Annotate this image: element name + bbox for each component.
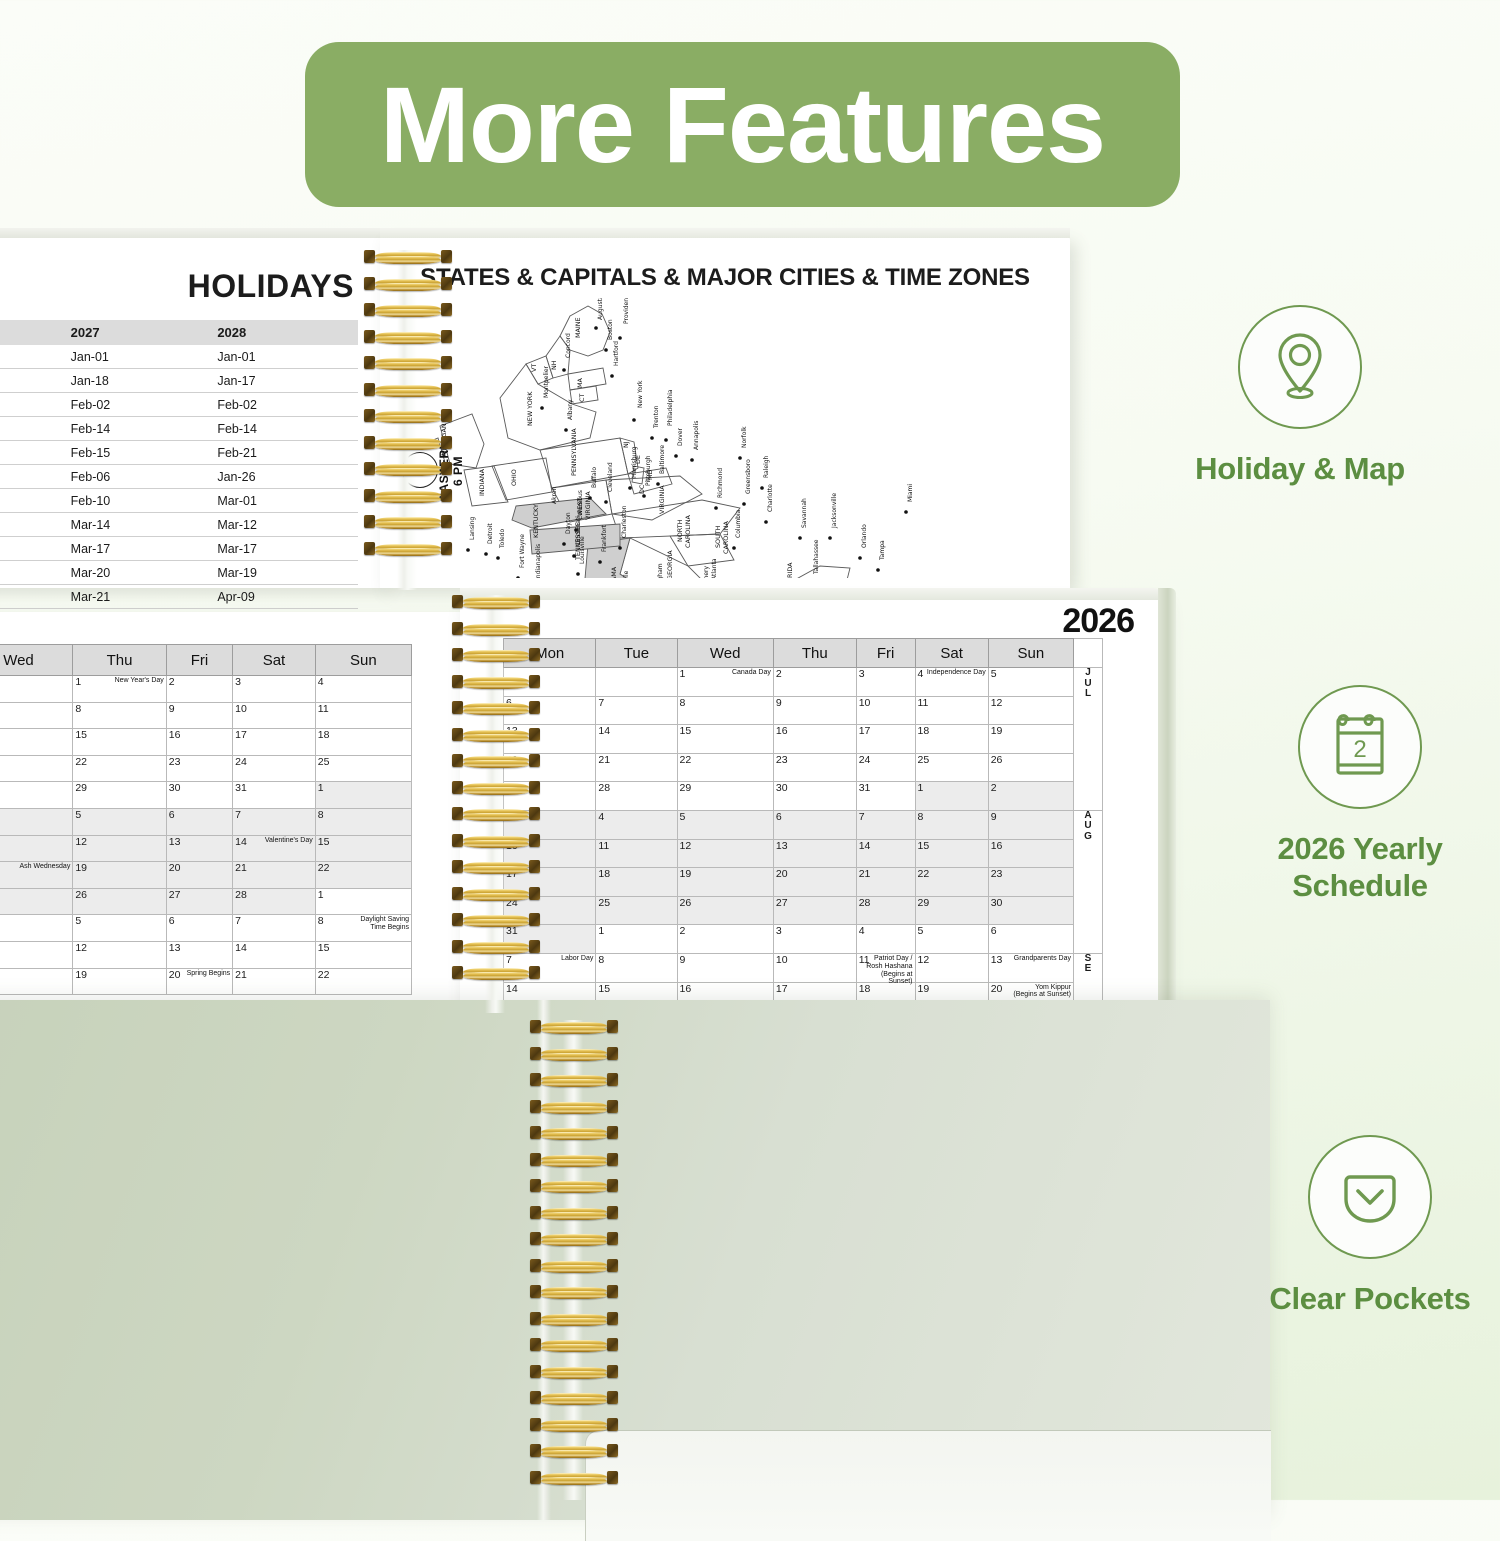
holidays-cell: Jan-01 <box>0 345 65 369</box>
calendar-day-cell[interactable] <box>0 676 73 703</box>
calendar-day-cell[interactable]: 4 <box>0 915 73 942</box>
svg-text:Lansing: Lansing <box>469 517 476 540</box>
calendar-day-cell[interactable]: 8Daylight Saving Time Begins <box>315 915 411 942</box>
holidays-cell: Feb-16 <box>0 441 65 465</box>
holidays-cell: Mar-14 <box>65 513 212 537</box>
calendar-day-cell[interactable]: 20Spring Begins <box>166 968 232 995</box>
calendar-day-cell[interactable]: 18 <box>596 868 677 897</box>
svg-text:Toledo: Toledo <box>499 529 506 549</box>
spiral-wire-loop <box>450 807 542 820</box>
calendar-day-number: 21 <box>598 755 610 766</box>
svg-text:Atlanta: Atlanta <box>711 558 718 578</box>
calendar-day-cell[interactable]: 5 <box>677 810 773 839</box>
calendar-month-tab: A U G <box>1074 810 1103 953</box>
calendar-day-cell[interactable]: 15 <box>315 835 411 862</box>
svg-text:Columbus: Columbus <box>577 490 584 520</box>
spiral-wire-loop <box>362 277 454 290</box>
calendar-day-cell[interactable]: 21 <box>856 868 915 897</box>
calendar-day-cell[interactable]: 1Canada Day <box>677 668 773 697</box>
calendar-day-cell[interactable]: 28 <box>233 888 316 915</box>
holidays-cell: Feb-02 <box>65 393 212 417</box>
calendar-day-number: 3 <box>859 669 865 680</box>
calendar-day-cell[interactable]: 1 <box>315 782 411 809</box>
holidays-table-header-row: 202620272028 <box>0 320 358 345</box>
calendar-day-cell[interactable]: 9 <box>677 953 773 982</box>
calendar-day-cell[interactable]: 7 <box>596 696 677 725</box>
calendar-day-cell[interactable]: 30 <box>988 896 1073 925</box>
calendar-day-cell[interactable]: 14 <box>0 729 73 756</box>
spiral-binding-bottom <box>528 1020 620 1500</box>
calendar-day-cell[interactable]: 2 <box>166 676 232 703</box>
calendar-day-cell[interactable]: 5 <box>73 808 166 835</box>
spiral-wire-loop <box>528 1179 620 1192</box>
calendar-day-cell[interactable]: 4 <box>315 676 411 703</box>
calendar-weekday-header: Sat <box>915 639 988 668</box>
map-pin-icon <box>1238 305 1362 429</box>
calendar-day-cell[interactable]: 7 <box>856 810 915 839</box>
calendar-day-cell[interactable]: 4 <box>0 808 73 835</box>
holidays-row: Mar-08Mar-14Mar-12 <box>0 513 358 537</box>
svg-text:CAROLINA: CAROLINA <box>684 514 692 548</box>
calendar-day-event: Daylight Saving Time Begins <box>360 916 409 932</box>
calendar-weekday-header: Fri <box>856 639 915 668</box>
calendar-day-cell[interactable]: 18Ash Wednesday <box>0 862 73 889</box>
calendar-day-cell[interactable]: 8 <box>915 810 988 839</box>
calendar-day-number: 15 <box>318 837 330 848</box>
calendar-day-number: 4 <box>918 669 924 680</box>
svg-text:Charlotte: Charlotte <box>767 484 774 512</box>
calendar-day-cell[interactable]: 12 <box>677 839 773 868</box>
calendar-day-cell[interactable]: 25 <box>315 755 411 782</box>
calendar-day-event: Canada Day <box>732 669 771 677</box>
calendar-day-cell[interactable]: 27 <box>166 888 232 915</box>
calendar-day-event: Valentine's Day <box>265 837 313 845</box>
calendar-day-cell[interactable]: 28 <box>856 896 915 925</box>
pocket-chevron-icon <box>1308 1135 1432 1259</box>
calendar-day-cell[interactable]: 24 <box>233 755 316 782</box>
calendar-day-number: 22 <box>318 863 330 874</box>
spiral-wire-loop <box>362 542 454 555</box>
calendar-day-cell[interactable]: 9 <box>166 702 232 729</box>
svg-text:Nashville: Nashville <box>623 570 630 578</box>
calendar-day-cell[interactable]: 12 <box>73 835 166 862</box>
calendar-day-cell[interactable]: 22 <box>315 968 411 995</box>
feature-clear-pockets: Clear Pockets <box>1245 1135 1495 1318</box>
holidays-cell: Jan-17 <box>211 369 358 393</box>
calendar-day-number: 17 <box>859 726 871 737</box>
calendar-day-number: 8 <box>680 698 686 709</box>
calendar-day-number: 17 <box>776 984 788 995</box>
calendar-day-cell[interactable]: 23 <box>773 753 856 782</box>
calendar-day-cell[interactable]: 10 <box>233 702 316 729</box>
svg-text:Orlando: Orlando <box>861 524 868 548</box>
holidays-row: Feb-14Feb-14Feb-14 <box>0 417 358 441</box>
spiral-wire-loop <box>528 1206 620 1219</box>
feature-yearly-schedule: 2 2026 Yearly Schedule <box>1215 685 1500 904</box>
holidays-cell: Feb-18 <box>0 489 65 513</box>
calendar-day-cell[interactable]: 11Patriot Day / Rosh Hashana (Begins at … <box>856 953 915 982</box>
calendar-day-cell[interactable]: 4 <box>856 925 915 954</box>
calendar-day-cell[interactable]: 26 <box>988 753 1073 782</box>
calendar-day-number: 23 <box>776 755 788 766</box>
calendar-day-cell[interactable]: 4 <box>596 810 677 839</box>
calendar-day-cell[interactable]: 22 <box>73 755 166 782</box>
spiral-wire-loop <box>450 781 542 794</box>
calendar-day-number: 14 <box>235 943 247 954</box>
calendar-day-cell[interactable]: 18 <box>315 729 411 756</box>
calendar-day-cell[interactable]: 30 <box>166 782 232 809</box>
calendar-weekday-header: Sun <box>315 645 411 676</box>
svg-text:Charleston: Charleston <box>621 505 628 538</box>
calendar-week-row: 3456789A U G <box>504 810 1103 839</box>
calendar-day-cell[interactable]: 5 <box>915 925 988 954</box>
calendar-day-cell[interactable]: 9 <box>988 810 1073 839</box>
calendar-week-row: 31123456 <box>504 925 1103 954</box>
calendar-day-number: 2 <box>776 669 782 680</box>
spiral-wire-loop <box>362 303 454 316</box>
holidays-cell: Mar-19 <box>211 561 358 585</box>
holidays-row: Mar-17Mar-17Mar-17 <box>0 537 358 561</box>
spiral-wire-loop <box>362 462 454 475</box>
spiral-wire-loop <box>528 1338 620 1351</box>
calendar-day-cell[interactable]: 29 <box>73 782 166 809</box>
calendar-day-number: 6 <box>776 812 782 823</box>
svg-text:Savannah: Savannah <box>801 498 808 528</box>
svg-text:SOUTH: SOUTH <box>714 525 722 548</box>
calendar-day-number: 19 <box>75 863 87 874</box>
calendar-day-cell[interactable]: 13 <box>166 835 232 862</box>
calendar-day-cell[interactable]: 22 <box>315 862 411 889</box>
calendar-day-number: 13 <box>169 943 181 954</box>
spiral-wire-loop <box>528 1126 620 1139</box>
calendar-icon-day-number: 2 <box>1353 736 1366 763</box>
calendar-day-cell[interactable]: 31 <box>233 782 316 809</box>
spiral-wire-loop <box>362 436 454 449</box>
calendar-day-cell[interactable]: 15 <box>73 729 166 756</box>
calendar-day-cell[interactable]: 25 <box>0 888 73 915</box>
map-page-title: STATES & CAPITALS & MAJOR CITIES & TIME … <box>380 264 1070 292</box>
svg-text:KENTUCKY: KENTUCKY <box>532 504 540 538</box>
calendar-day-cell[interactable]: 10 <box>773 953 856 982</box>
calendar-day-cell[interactable]: 8 <box>596 953 677 982</box>
calendar-day-cell[interactable]: 5 <box>988 668 1073 697</box>
svg-text:VT: VT <box>530 364 538 372</box>
calendar-day-cell[interactable]: 17 <box>856 725 915 754</box>
calendar-day-cell[interactable]: 3 <box>233 676 316 703</box>
spiral-wire-loop <box>450 622 542 635</box>
holidays-table-body: Jan-01Jan-01Jan-01Jan-19Jan-18Jan-17Feb-… <box>0 345 358 633</box>
calendar-day-number: 21 <box>235 863 247 874</box>
calendar-day-cell[interactable]: 7 <box>233 915 316 942</box>
calendar-year-label: 2026 <box>1062 602 1134 641</box>
svg-text:Annapolis: Annapolis <box>693 421 700 450</box>
calendar-day-cell[interactable]: 17 <box>233 729 316 756</box>
calendar-weekday-header: Thu <box>773 639 856 668</box>
calendar-day-cell[interactable]: 29 <box>677 782 773 811</box>
calendar-day-cell[interactable]: 4Independence Day <box>915 668 988 697</box>
calendar-day-cell[interactable]: 12 <box>73 941 166 968</box>
holidays-cell: Mar-01 <box>211 489 358 513</box>
calendar-day-cell[interactable]: 31 <box>856 782 915 811</box>
calendar-day-cell[interactable]: 25 <box>915 753 988 782</box>
calendar-day-cell[interactable]: 11 <box>915 696 988 725</box>
calendar-day-number: 25 <box>918 755 930 766</box>
calendar-day-cell[interactable]: 21 <box>233 862 316 889</box>
holidays-page-title: HOLIDAYS <box>188 268 354 305</box>
calendar-day-number: 5 <box>680 812 686 823</box>
calendar-day-cell[interactable]: 1 <box>315 888 411 915</box>
svg-text:Pittsburgh: Pittsburgh <box>645 455 652 486</box>
calendar-day-number: 22 <box>680 755 692 766</box>
calendar-day-cell[interactable]: 7 <box>0 702 73 729</box>
spiral-wire-loop <box>528 1259 620 1272</box>
calendar-day-cell[interactable]: 26 <box>73 888 166 915</box>
calendar-day-cell[interactable]: 20 <box>166 862 232 889</box>
feature-holiday-map: Holiday & Map <box>1155 305 1445 488</box>
calendar-day-number: 10 <box>235 704 247 715</box>
calendar-day-cell[interactable]: 23 <box>166 755 232 782</box>
calendar-day-number: 15 <box>75 730 87 741</box>
holidays-cell: Mar-17 <box>0 537 65 561</box>
calendar-day-cell[interactable]: 1 <box>915 782 988 811</box>
calendar-day-number: 22 <box>75 757 87 768</box>
calendar-day-cell[interactable]: 19 <box>73 862 166 889</box>
calendar-day-cell[interactable]: 14 <box>233 941 316 968</box>
calendar-day-number: 8 <box>318 810 324 821</box>
calendar-day-number: 24 <box>859 755 871 766</box>
spiral-wire-loop <box>450 728 542 741</box>
spiral-wire-loop <box>528 1444 620 1457</box>
calendar-day-number: 4 <box>318 677 324 688</box>
svg-text:NJ: NJ <box>622 441 630 448</box>
calendar-week-row: 252627281 <box>0 888 412 915</box>
calendar-weekday-header: Sun <box>988 639 1073 668</box>
calendar-day-number: 18 <box>318 730 330 741</box>
calendar-day-cell[interactable]: 28 <box>0 782 73 809</box>
holidays-cell: Jan-26 <box>211 465 358 489</box>
svg-text:Frankfort: Frankfort <box>601 524 608 552</box>
calendar-day-number: 31 <box>235 783 247 794</box>
calendar-day-number: 29 <box>680 783 692 794</box>
yearly-calendar-right-page: 2026 MonTueWedThuFriSatSun 1Canada Day23… <box>460 598 1160 1012</box>
calendar-week-row: 1112131415 <box>0 941 412 968</box>
calendar-day-number: 26 <box>991 755 1003 766</box>
calendar-day-cell[interactable]: 13Grandparents Day <box>988 953 1073 982</box>
calendar-day-cell[interactable]: 2 <box>988 782 1073 811</box>
calendar-day-number: 3 <box>235 677 241 688</box>
calendar-left-body: 1New Year's Day2347891011141516171821222… <box>0 676 412 995</box>
calendar-day-number: 23 <box>991 869 1003 880</box>
calendar-day-cell[interactable]: 21 <box>0 755 73 782</box>
svg-text:NH: NH <box>550 360 558 370</box>
calendar-day-number: 5 <box>918 926 924 937</box>
holidays-row: Feb-02Feb-02Feb-02 <box>0 393 358 417</box>
holidays-cell: Feb-14 <box>65 417 212 441</box>
calendar-day-cell[interactable]: 21 <box>596 753 677 782</box>
calendar-day-cell[interactable]: 14Valentine's Day <box>233 835 316 862</box>
calendar-day-cell[interactable]: 25 <box>596 896 677 925</box>
calendar-day-number: 20 <box>991 984 1003 995</box>
calendar-day-cell[interactable]: 18 <box>915 725 988 754</box>
calendar-day-number: 1 <box>318 783 324 794</box>
calendar-day-number: 28 <box>598 783 610 794</box>
svg-text:Cleveland: Cleveland <box>607 462 614 492</box>
holidays-cell: Mar-12 <box>211 513 358 537</box>
calendar-day-cell[interactable] <box>596 668 677 697</box>
calendar-day-cell[interactable]: 14 <box>596 725 677 754</box>
calendar-day-number: 7 <box>235 916 241 927</box>
spiral-binding-top <box>362 250 454 590</box>
calendar-day-cell[interactable]: 11 <box>0 835 73 862</box>
holidays-cell: Feb-02 <box>0 393 65 417</box>
holidays-row: Mar-20Mar-20Mar-19 <box>0 561 358 585</box>
calendar-day-cell[interactable]: 11 <box>0 941 73 968</box>
svg-text:FLORIDA: FLORIDA <box>786 562 794 578</box>
calendar-day-cell[interactable]: 18 <box>0 968 73 995</box>
calendar-day-cell[interactable]: 15 <box>315 941 411 968</box>
calendar-day-number: 17 <box>235 730 247 741</box>
calendar-day-number: 25 <box>318 757 330 768</box>
calendar-week-row: 6789101112 <box>504 696 1103 725</box>
calendar-day-cell[interactable]: 27 <box>773 896 856 925</box>
calendar-week-row: 7Labor Day891011Patriot Day / Rosh Hasha… <box>504 953 1103 982</box>
calendar-day-number: 29 <box>75 783 87 794</box>
svg-text:Fort Wayne: Fort Wayne <box>519 534 526 568</box>
calendar-day-cell[interactable]: 23 <box>988 868 1073 897</box>
calendar-day-number: 20 <box>776 869 788 880</box>
calendar-day-cell[interactable]: 1 <box>596 925 677 954</box>
calendar-day-cell[interactable]: 5 <box>73 915 166 942</box>
calendar-day-cell[interactable]: 3 <box>773 925 856 954</box>
svg-text:Philadelphia: Philadelphia <box>667 389 674 426</box>
calendar-day-number: 26 <box>75 890 87 901</box>
calendar-day-cell[interactable]: 14 <box>856 839 915 868</box>
calendar-day-cell[interactable]: 13 <box>166 941 232 968</box>
calendar-day-cell[interactable]: 8 <box>73 702 166 729</box>
svg-text:Norfolk: Norfolk <box>741 426 748 448</box>
calendar-day-cell[interactable]: 15 <box>677 725 773 754</box>
calendar-day-number: 7 <box>235 810 241 821</box>
calendar-day-number: 15 <box>680 726 692 737</box>
calendar-day-cell[interactable]: 6 <box>166 808 232 835</box>
calendar-day-number: 25 <box>598 898 610 909</box>
calendar-day-number: 8 <box>598 955 604 966</box>
calendar-weekday-header: Sat <box>233 645 316 676</box>
calendar-day-cell[interactable]: 7 <box>233 808 316 835</box>
calendar-day-number: 13 <box>776 841 788 852</box>
calendar-day-number: 1 <box>598 926 604 937</box>
calendar-day-cell[interactable]: 2 <box>677 925 773 954</box>
calendar-day-cell[interactable]: 16 <box>988 839 1073 868</box>
calendar-day-cell[interactable]: 29 <box>915 896 988 925</box>
calendar-day-cell[interactable]: 10 <box>856 696 915 725</box>
svg-text:Richmond: Richmond <box>717 468 724 498</box>
holidays-row: Feb-16Feb-15Feb-21 <box>0 441 358 465</box>
calendar-day-cell[interactable]: 22 <box>677 753 773 782</box>
calendar-day-number: 24 <box>235 757 247 768</box>
calendar-day-cell[interactable]: 1New Year's Day <box>73 676 166 703</box>
calendar-day-cell[interactable]: 2 <box>773 668 856 697</box>
calendar-week-row: 10111213141516 <box>504 839 1103 868</box>
calendar-day-cell[interactable]: 9 <box>773 696 856 725</box>
svg-text:MA: MA <box>576 377 584 388</box>
calendar-day-cell[interactable]: 15 <box>915 839 988 868</box>
holidays-cell: Mar-20 <box>65 561 212 585</box>
calendar-day-cell[interactable]: 12 <box>915 953 988 982</box>
calendar-week-row: 45678 <box>0 808 412 835</box>
calendar-day-cell[interactable]: 19 <box>677 868 773 897</box>
calendar-day-cell[interactable]: 8 <box>315 808 411 835</box>
calendar-day-number: 2 <box>680 926 686 937</box>
calendar-day-cell[interactable]: 22 <box>915 868 988 897</box>
calendar-day-cell[interactable]: 3 <box>856 668 915 697</box>
calendar-day-cell[interactable]: 19 <box>988 725 1073 754</box>
holidays-row: Jan-01Jan-01Jan-01 <box>0 345 358 369</box>
spiral-wire-loop <box>528 1232 620 1245</box>
calendar-day-number: 2 <box>991 783 997 794</box>
calendar-day-number: 1 <box>318 890 324 901</box>
calendar-day-cell[interactable]: 20 <box>773 868 856 897</box>
spiral-wire-loop <box>528 1312 620 1325</box>
calendar-day-cell[interactable]: 12 <box>988 696 1073 725</box>
calendar-day-cell[interactable]: 24 <box>856 753 915 782</box>
svg-text:Montpelier: Montpelier <box>543 365 550 398</box>
svg-text:Akron: Akron <box>551 486 558 504</box>
calendar-day-number: 8 <box>918 812 924 823</box>
calendar-day-event: Independence Day <box>927 669 986 677</box>
calendar-day-cell[interactable]: 6 <box>773 810 856 839</box>
spiral-wire-loop <box>528 1047 620 1060</box>
calendar-day-cell[interactable]: 16 <box>166 729 232 756</box>
calendar-day-event: Grandparents Day <box>1014 955 1071 963</box>
calendar-day-number: 12 <box>991 698 1003 709</box>
calendar-day-cell[interactable]: 8 <box>677 696 773 725</box>
spiral-binding-middle <box>450 595 542 1013</box>
calendar-day-number: 3 <box>776 926 782 937</box>
calendar-day-cell[interactable]: 21 <box>233 968 316 995</box>
feature-label-holiday-map: Holiday & Map <box>1155 451 1445 488</box>
spiral-wire-loop <box>528 1285 620 1298</box>
calendar-day-number: 28 <box>235 890 247 901</box>
calendar-day-cell[interactable]: 28 <box>596 782 677 811</box>
calendar-day-number: 4 <box>598 812 604 823</box>
calendar-day-cell[interactable]: 19 <box>73 968 166 995</box>
calendar-day-number: 10 <box>859 698 871 709</box>
calendar-day-cell[interactable]: 26 <box>677 896 773 925</box>
calendar-day-number: 5 <box>75 916 81 927</box>
calendar-day-cell[interactable]: 11 <box>596 839 677 868</box>
calendar-day-number: 9 <box>776 698 782 709</box>
calendar-day-number: 18 <box>859 984 871 995</box>
calendar-day-cell[interactable]: 11 <box>315 702 411 729</box>
calendar-day-cell[interactable]: 16 <box>773 725 856 754</box>
calendar-day-number: 26 <box>680 898 692 909</box>
calendar-day-number: 5 <box>75 810 81 821</box>
calendar-week-row: 2122232425 <box>0 755 412 782</box>
svg-text:Augusta: Augusta <box>597 298 604 320</box>
calendar-day-cell[interactable]: 30 <box>773 782 856 811</box>
calendar-day-cell[interactable]: 6 <box>166 915 232 942</box>
calendar-day-number: 1 <box>918 783 924 794</box>
holidays-table: 202620272028 Jan-01Jan-01Jan-01Jan-19Jan… <box>0 320 358 633</box>
calendar-day-number: 21 <box>859 869 871 880</box>
calendar-day-number: 14 <box>598 726 610 737</box>
calendar-day-number: 12 <box>75 943 87 954</box>
holidays-cell: Feb-02 <box>211 393 358 417</box>
calendar-day-cell[interactable]: 13 <box>773 839 856 868</box>
calendar-day-event: Spring Begins <box>187 970 231 978</box>
calendar-day-cell[interactable]: 6 <box>988 925 1073 954</box>
